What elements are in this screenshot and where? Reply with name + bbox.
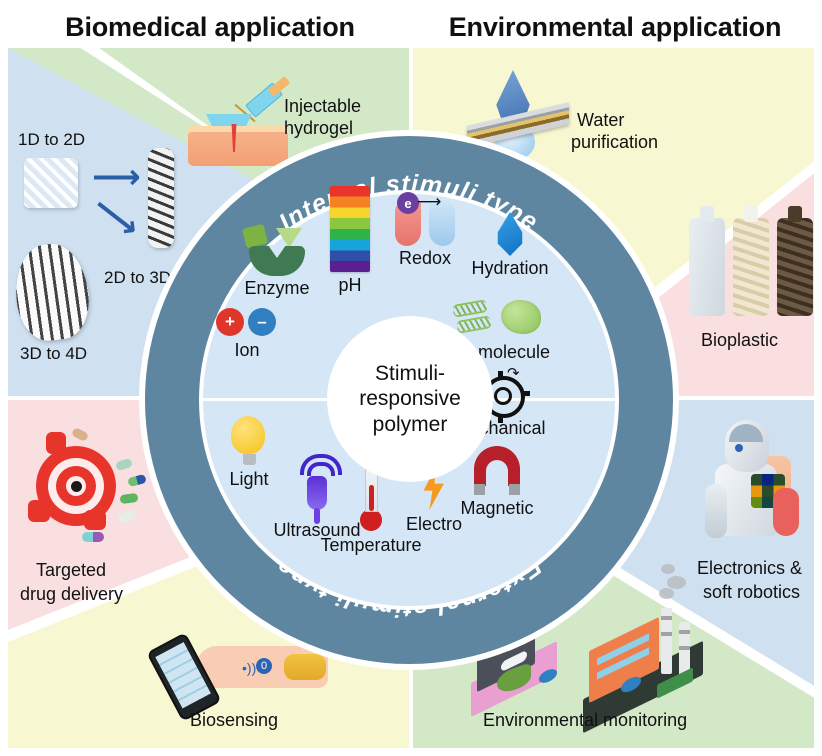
core-line-1: Stimuli- xyxy=(359,361,461,386)
stimulus-ion-label: Ion xyxy=(201,340,293,360)
stimulus-magnetic-label: Magnetic xyxy=(445,498,549,518)
lattice-sheet-icon xyxy=(24,158,78,208)
core-line-3: polymer xyxy=(359,412,461,437)
bioplastic-label: Bioplastic xyxy=(701,330,778,350)
electronics-soft-robotics-label-line1: Electronics & xyxy=(697,558,802,578)
stimulus-ph-label: pH xyxy=(320,275,380,295)
stimuli-wheel: Internal stimuli type External stimuli t… xyxy=(139,130,679,670)
biomolecule-icon xyxy=(453,300,549,342)
core-line-2: responsive xyxy=(359,386,461,411)
water-purification-label-line1: Water xyxy=(577,110,624,130)
stimulus-ph[interactable]: pH xyxy=(320,186,380,295)
label-3d-to-4d: 3D to 4D xyxy=(20,344,87,363)
environmental-application-header: Environmental application xyxy=(420,10,810,44)
targeted-drug-delivery-label-line1: Targeted xyxy=(36,560,106,580)
enzyme-icon xyxy=(242,226,312,278)
stimulus-enzyme[interactable]: Enzyme xyxy=(227,226,327,298)
core-circle: Stimuli- responsive polymer xyxy=(327,316,493,482)
biomedical-application-header: Biomedical application xyxy=(20,10,400,44)
targeted-drug-delivery-label-line2: drug delivery xyxy=(20,584,123,604)
core-text: Stimuli- responsive polymer xyxy=(359,361,461,437)
stimulus-hydration[interactable]: Hydration xyxy=(455,212,565,278)
ion-charges-icon: + – xyxy=(216,308,278,338)
horseshoe-magnet-icon xyxy=(474,446,520,496)
figure-root: Biomedical application Environmental app… xyxy=(0,0,822,756)
environmental-monitoring-label: Environmental monitoring xyxy=(483,710,687,730)
electron-badge: e xyxy=(397,192,419,214)
targeted-drug-delivery-icon xyxy=(24,434,154,544)
injectable-hydrogel-label-line1: Injectable xyxy=(284,96,361,116)
bioplastic-bottles-icon xyxy=(687,204,814,324)
ion-negative-badge: – xyxy=(248,308,276,336)
electronics-soft-robotics-label-line2: soft robotics xyxy=(703,582,800,602)
stimulus-ion[interactable]: + – Ion xyxy=(201,308,293,360)
ion-positive-badge: + xyxy=(216,308,244,336)
shell-structure-icon xyxy=(16,244,88,340)
redox-icon: e ⟶ xyxy=(389,192,461,248)
biosensing-label: Biosensing xyxy=(190,710,278,730)
water-drop-icon xyxy=(493,212,527,256)
soft-robot-icon xyxy=(699,418,809,548)
label-1d-to-2d: 1D to 2D xyxy=(18,130,85,149)
arrow-right-icon: ⟶ xyxy=(92,160,141,194)
stimulus-enzyme-label: Enzyme xyxy=(227,278,327,298)
stimulus-hydration-label: Hydration xyxy=(455,258,565,278)
stimulus-temperature-label: Temperature xyxy=(305,535,437,555)
ph-scale-icon xyxy=(330,186,370,272)
